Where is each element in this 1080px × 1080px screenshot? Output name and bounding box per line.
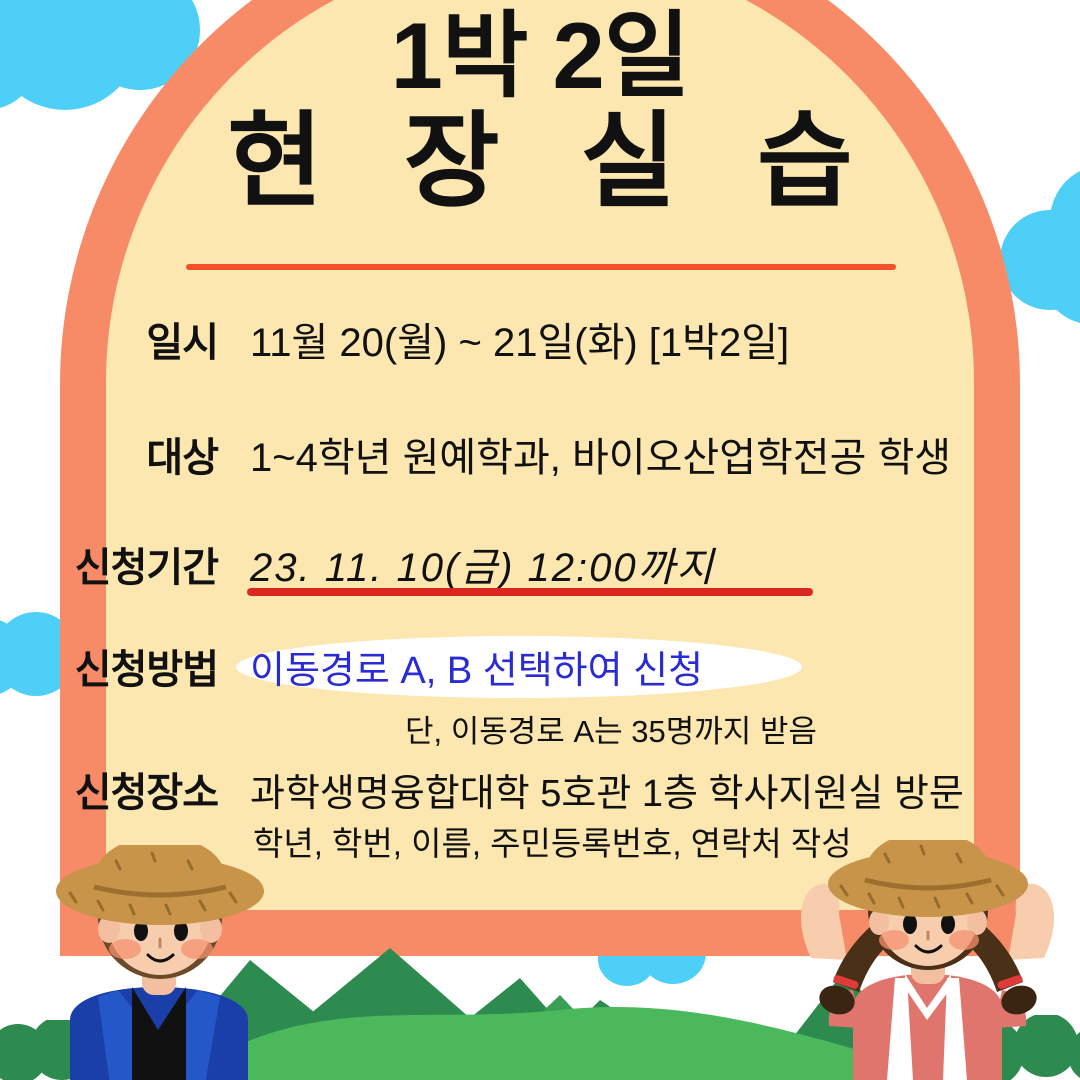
value-target: 1~4학년 원예학과, 바이오산업학전공 학생: [250, 425, 951, 483]
value-date: 11월 20(월) ~ 21일(화) [1박2일]: [250, 310, 789, 368]
label-method: 신청방법: [42, 637, 218, 695]
note-required-fields: 학년, 학번, 이름, 주민등록번호, 연락처 작성: [253, 817, 852, 865]
poster-title: 1박 2일 현 장 실 습: [0, 8, 1080, 217]
label-place: 신청장소: [42, 760, 218, 818]
info-row-target: 대상 1~4학년 원예학과, 바이오산업학전공 학생: [42, 425, 951, 483]
title-line-1: 1박 2일: [0, 8, 1080, 104]
label-target: 대상: [42, 425, 218, 483]
poster-content: 1박 2일 현 장 실 습 일시 11월 20(월) ~ 21일(화) [1박2…: [0, 0, 1080, 1080]
info-row-place: 신청장소 과학생명융합대학 5호관 1층 학사지원실 방문: [42, 760, 964, 818]
label-date: 일시: [42, 310, 218, 368]
poster-root: 1박 2일 현 장 실 습 일시 11월 20(월) ~ 21일(화) [1박2…: [0, 0, 1080, 1080]
note-capacity: 단, 이동경로 A는 35명까지 받음: [405, 706, 817, 751]
info-row-date: 일시 11월 20(월) ~ 21일(화) [1박2일]: [42, 310, 789, 368]
info-row-method: 신청방법 이동경로 A, B 선택하여 신청: [42, 637, 703, 695]
value-place: 과학생명융합대학 5호관 1층 학사지원실 방문: [250, 762, 964, 817]
value-method: 이동경로 A, B 선택하여 신청: [250, 639, 703, 694]
label-period: 신청기간: [42, 535, 218, 593]
title-divider: [186, 264, 896, 270]
title-line-2: 현 장 실 습: [0, 108, 1080, 217]
period-underline: [247, 588, 813, 596]
